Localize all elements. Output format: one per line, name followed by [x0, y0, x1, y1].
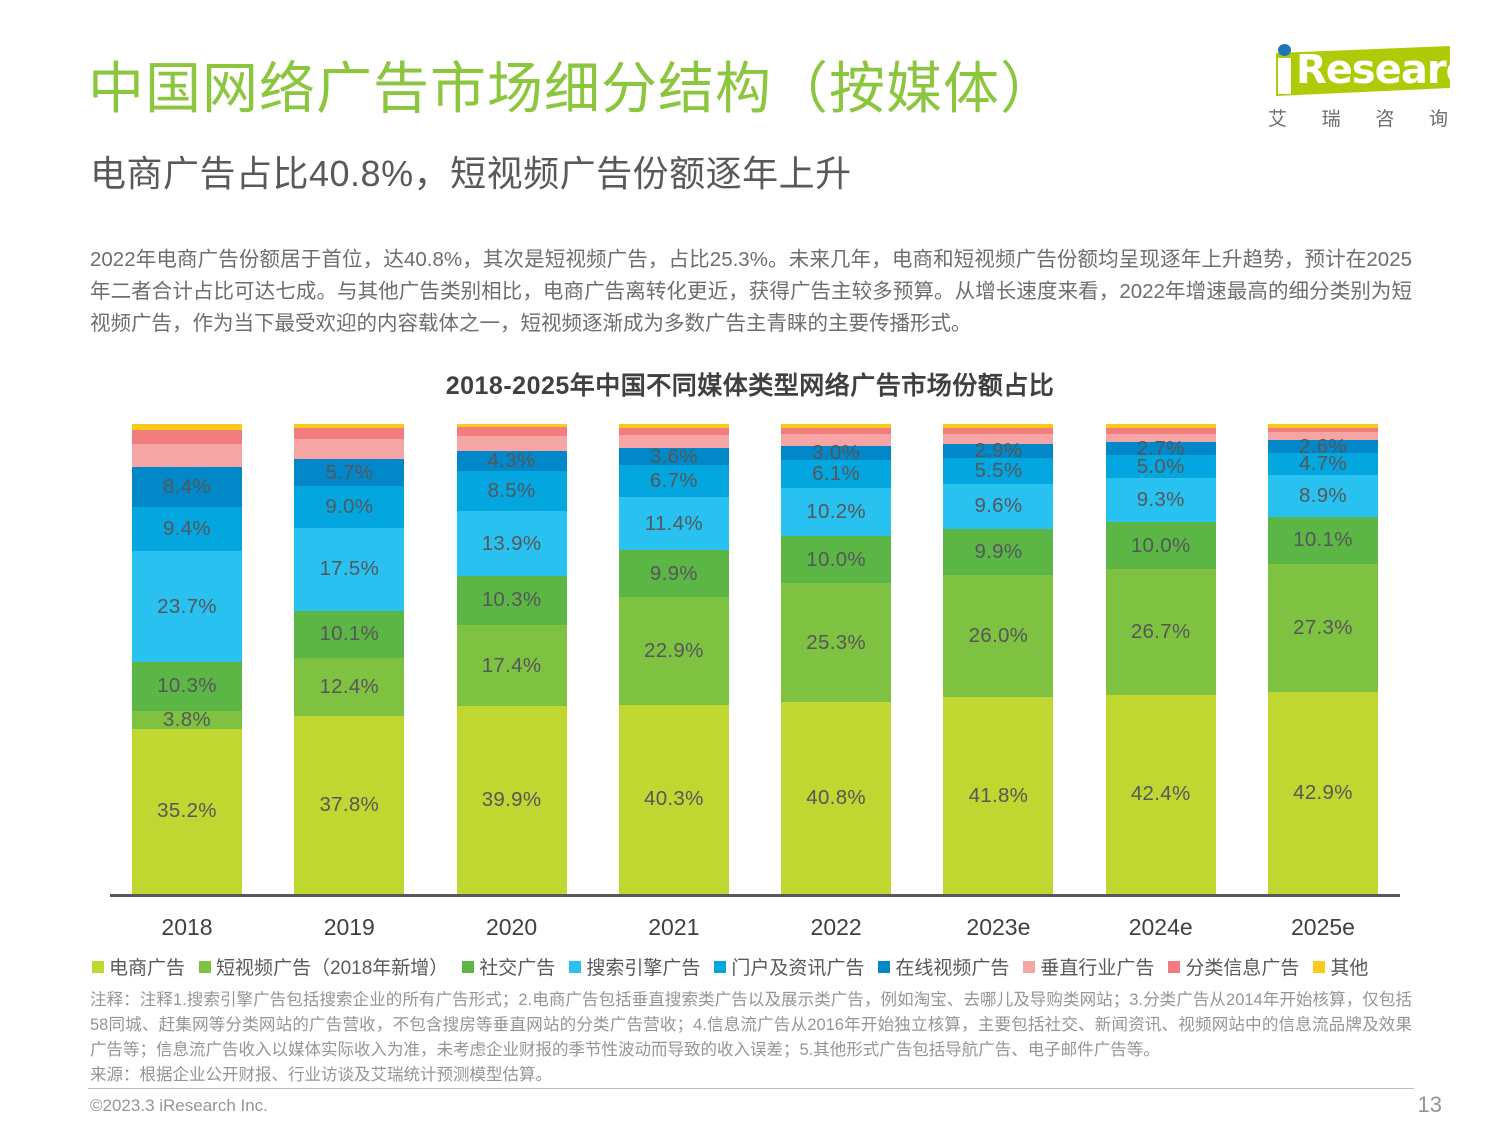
bar-segment[interactable]: 42.4% [1106, 695, 1216, 894]
bar-segment[interactable]: 2.7% [1106, 442, 1216, 455]
bar-segment-label: 17.5% [319, 557, 379, 581]
copyright-text: ©2023.3 iResearch Inc. [90, 1096, 268, 1116]
bar-segment[interactable]: 41.8% [943, 697, 1053, 893]
bar-segment[interactable]: 10.1% [294, 611, 404, 658]
legend-item[interactable]: 垂直行业广告 [1023, 953, 1154, 980]
logo-mark: Research [1264, 42, 1450, 100]
bar-segment[interactable]: 37.8% [294, 716, 404, 894]
bar-segment[interactable]: 10.1% [1268, 517, 1378, 564]
chart-notes: 注释：注释1.搜索引擎广告包括搜索企业的所有广告形式；2.电商广告包括垂直搜索类… [90, 988, 1412, 1063]
bar-segment[interactable]: 9.0% [294, 486, 404, 528]
chart-legend: 电商广告短视频广告（2018年新增）社交广告搜索引擎广告门户及资讯广告在线视频广… [92, 953, 1412, 980]
lead-paragraph: 2022年电商广告份额居于首位，达40.8%，其次是短视频广告，占比25.3%。… [90, 244, 1412, 340]
bar-column-2018[interactable]: 8.4%9.4%23.7%10.3%3.8%35.2% [132, 424, 242, 894]
legend-label: 门户及资讯广告 [731, 953, 864, 980]
legend-item[interactable]: 其他 [1313, 953, 1368, 980]
bar-segment-label: 10.3% [482, 588, 542, 612]
bar-segment-label: 8.4% [163, 475, 211, 499]
bar-segment[interactable] [294, 428, 404, 439]
logo-wordmark: Research [1296, 48, 1496, 92]
bar-segment[interactable]: 39.9% [457, 706, 567, 894]
slide-page: 中国网络广告市场细分结构（按媒体） 电商广告占比40.8%，短视频广告份额逐年上… [0, 0, 1500, 1125]
bar-segment[interactable]: 23.7% [132, 551, 242, 662]
page-title: 中国网络广告市场细分结构（按媒体） [88, 58, 1057, 120]
legend-item[interactable]: 搜索引擎广告 [569, 953, 700, 980]
page-number: 13 [1418, 1092, 1442, 1118]
bar-segment-label: 10.3% [157, 674, 217, 698]
chart-source: 来源：根据企业公开财报、行业访谈及艾瑞统计预测模型估算。 [90, 1063, 1412, 1088]
bar-segment[interactable]: 17.5% [294, 528, 404, 610]
bar-segment[interactable] [781, 428, 891, 435]
bar-segment[interactable]: 3.6% [619, 448, 729, 465]
bar-segment-label: 11.4% [645, 512, 703, 536]
legend-item[interactable]: 分类信息广告 [1168, 953, 1299, 980]
bar-segment-label: 13.9% [482, 532, 542, 556]
logo-cn-char-2: 瑞 [1322, 104, 1341, 131]
bar-segment[interactable]: 10.3% [132, 662, 242, 710]
legend-swatch-icon [199, 961, 211, 973]
bar-segment-label: 9.9% [650, 562, 698, 586]
x-axis-label-2025e: 2025e [1268, 904, 1378, 950]
chart-title: 2018-2025年中国不同媒体类型网络广告市场份额占比 [0, 366, 1500, 402]
legend-item[interactable]: 在线视频广告 [878, 953, 1009, 980]
bar-segment[interactable] [457, 427, 567, 435]
bar-segment[interactable]: 5.7% [294, 459, 404, 486]
x-axis-label-2021: 2021 [619, 904, 729, 950]
bar-column-2019[interactable]: 5.7%9.0%17.5%10.1%12.4%37.8% [294, 424, 404, 894]
bar-segment-label: 17.4% [482, 654, 542, 678]
bar-segment[interactable] [294, 439, 404, 459]
legend-label: 在线视频广告 [895, 953, 1009, 980]
bar-segment-label: 26.0% [969, 624, 1029, 648]
legend-swatch-icon [1023, 961, 1035, 973]
bar-segment-label: 8.9% [1299, 484, 1347, 508]
footer-divider [88, 1088, 1414, 1089]
bar-segment[interactable]: 4.7% [1268, 453, 1378, 475]
bar-segment-label: 10.0% [806, 548, 866, 572]
legend-swatch-icon [462, 961, 474, 973]
bar-segment[interactable]: 10.2% [781, 488, 891, 536]
bar-segment[interactable]: 2.9% [943, 444, 1053, 458]
bar-segment-label: 39.9% [482, 788, 542, 812]
x-axis-label-2020: 2020 [457, 904, 567, 950]
bar-segment[interactable]: 9.6% [943, 484, 1053, 529]
bar-segment[interactable]: 10.0% [781, 536, 891, 583]
bar-segment[interactable]: 40.8% [781, 702, 891, 894]
bar-segment[interactable]: 9.3% [1106, 478, 1216, 522]
bar-segment-label: 9.0% [325, 495, 373, 519]
bar-segment[interactable]: 8.4% [132, 467, 242, 506]
bar-segment[interactable]: 6.7% [619, 465, 729, 496]
bar-segment-label: 26.7% [1131, 620, 1191, 644]
bar-segment-label: 4.7% [1299, 452, 1347, 476]
bar-column-2024e[interactable]: 2.7%5.0%9.3%10.0%26.7%42.4% [1106, 424, 1216, 894]
bar-segment-label: 9.3% [1137, 488, 1185, 512]
stacked-bars-container: 8.4%9.4%23.7%10.3%3.8%35.2%5.7%9.0%17.5%… [110, 424, 1400, 894]
x-axis-line [110, 894, 1400, 897]
bar-segment-label: 10.1% [1293, 528, 1353, 552]
bar-column-2020[interactable]: 4.3%8.5%13.9%10.3%17.4%39.9% [457, 424, 567, 894]
bar-segment-label: 5.0% [1137, 455, 1185, 479]
x-axis-label-2023e: 2023e [943, 904, 1053, 950]
legend-swatch-icon [1168, 961, 1180, 973]
bar-segment[interactable] [132, 444, 242, 468]
bar-segment-label: 27.3% [1293, 616, 1353, 640]
bar-segment[interactable]: 12.4% [294, 658, 404, 716]
bar-column-2025e[interactable]: 2.6%4.7%8.9%10.1%27.3%42.9% [1268, 424, 1378, 894]
legend-swatch-icon [714, 961, 726, 973]
x-axis-label-2024e: 2024e [1106, 904, 1216, 950]
bar-segment[interactable]: 3.0% [781, 446, 891, 460]
bar-segment-label: 10.1% [319, 622, 379, 646]
x-axis-label-2019: 2019 [294, 904, 404, 950]
bar-segment[interactable]: 4.3% [457, 451, 567, 471]
bar-segment[interactable]: 26.0% [943, 575, 1053, 697]
logo-i-dot-icon [1278, 44, 1291, 56]
chart-plot-area: 8.4%9.4%23.7%10.3%3.8%35.2%5.7%9.0%17.5%… [110, 424, 1400, 894]
bar-segment-label: 37.8% [319, 793, 379, 817]
bar-segment[interactable]: 17.4% [457, 625, 567, 707]
legend-label: 垂直行业广告 [1040, 953, 1154, 980]
logo-cn-char-1: 艾 [1268, 104, 1287, 131]
bar-segment[interactable]: 35.2% [132, 729, 242, 894]
bar-segment[interactable]: 22.9% [619, 597, 729, 705]
bar-segment[interactable]: 10.3% [457, 576, 567, 624]
bar-segment[interactable]: 5.0% [1106, 455, 1216, 479]
bar-segment[interactable]: 8.5% [457, 471, 567, 511]
page-subtitle: 电商广告占比40.8%，短视频广告份额逐年上升 [90, 152, 852, 196]
logo-chinese-name: 艾 瑞 咨 询 [1268, 104, 1448, 131]
bar-segment[interactable]: 40.3% [619, 705, 729, 894]
iresearch-logo: Research 艾 瑞 咨 询 [1252, 42, 1452, 142]
bar-segment-label: 35.2% [157, 799, 217, 823]
legend-swatch-icon [878, 961, 890, 973]
bar-segment[interactable]: 11.4% [619, 497, 729, 551]
legend-swatch-icon [569, 961, 581, 973]
legend-item[interactable]: 社交广告 [462, 953, 555, 980]
bar-segment[interactable]: 42.9% [1268, 692, 1378, 894]
bar-segment-label: 42.4% [1131, 782, 1191, 806]
legend-swatch-icon [92, 961, 104, 973]
bar-segment-label: 41.8% [969, 784, 1029, 808]
bar-segment-label: 9.6% [974, 494, 1022, 518]
bar-segment-label: 5.5% [974, 459, 1022, 483]
legend-label: 分类信息广告 [1185, 953, 1299, 980]
bar-segment[interactable] [132, 430, 242, 444]
logo-cn-char-3: 咨 [1375, 104, 1394, 131]
bar-segment[interactable] [619, 428, 729, 435]
bar-segment[interactable]: 6.1% [781, 460, 891, 489]
bar-segment-label: 40.3% [644, 787, 704, 811]
legend-label: 搜索引擎广告 [586, 953, 700, 980]
bar-segment-label: 6.7% [650, 469, 698, 493]
logo-cn-char-4: 询 [1429, 104, 1448, 131]
legend-swatch-icon [1313, 961, 1325, 973]
bar-segment[interactable]: 13.9% [457, 511, 567, 576]
legend-item[interactable]: 电商广告 [92, 953, 185, 980]
bar-segment-label: 9.4% [163, 517, 211, 541]
logo-i-stem-icon [1278, 58, 1291, 94]
bar-column-2021[interactable]: 3.6%6.7%11.4%9.9%22.9%40.3% [619, 424, 729, 894]
x-axis-labels: 201820192020202120222023e2024e2025e [110, 904, 1400, 950]
bar-segment-label: 10.2% [806, 500, 866, 524]
bar-segment-label: 9.9% [974, 540, 1022, 564]
bar-segment[interactable]: 5.5% [943, 458, 1053, 484]
bar-segment[interactable]: 25.3% [781, 583, 891, 702]
legend-label: 电商广告 [109, 953, 185, 980]
bar-column-2023e[interactable]: 2.9%5.5%9.6%9.9%26.0%41.8% [943, 424, 1053, 894]
bar-segment-label: 6.1% [812, 462, 860, 486]
x-axis-label-2022: 2022 [781, 904, 891, 950]
legend-label: 短视频广告（2018年新增） [216, 953, 448, 980]
bar-segment-label: 8.5% [488, 479, 536, 503]
x-axis-label-2018: 2018 [132, 904, 242, 950]
bar-segment-label: 5.7% [325, 461, 373, 485]
bar-segment[interactable]: 27.3% [1268, 564, 1378, 692]
bar-segment-label: 40.8% [806, 786, 866, 810]
bar-segment-label: 23.7% [157, 595, 217, 619]
bar-segment-label: 42.9% [1293, 781, 1353, 805]
bar-segment[interactable]: 10.0% [1106, 522, 1216, 569]
legend-label: 其他 [1330, 953, 1368, 980]
bar-segment[interactable]: 3.8% [132, 711, 242, 729]
legend-label: 社交广告 [479, 953, 555, 980]
bar-segment[interactable]: 9.9% [943, 529, 1053, 576]
bar-column-2022[interactable]: 3.0%6.1%10.2%10.0%25.3%40.8% [781, 424, 891, 894]
legend-item[interactable]: 短视频广告（2018年新增） [199, 953, 448, 980]
bar-segment-label: 10.0% [1131, 534, 1191, 558]
bar-segment-label: 12.4% [319, 675, 379, 699]
bar-segment-label: 25.3% [806, 631, 866, 655]
bar-segment-label: 22.9% [644, 639, 704, 663]
legend-item[interactable]: 门户及资讯广告 [714, 953, 864, 980]
bar-segment[interactable]: 8.9% [1268, 475, 1378, 517]
bar-segment-label: 4.3% [488, 449, 536, 473]
bar-segment[interactable]: 26.7% [1106, 569, 1216, 694]
bar-segment[interactable]: 9.9% [619, 550, 729, 597]
bar-segment[interactable]: 9.4% [132, 507, 242, 551]
